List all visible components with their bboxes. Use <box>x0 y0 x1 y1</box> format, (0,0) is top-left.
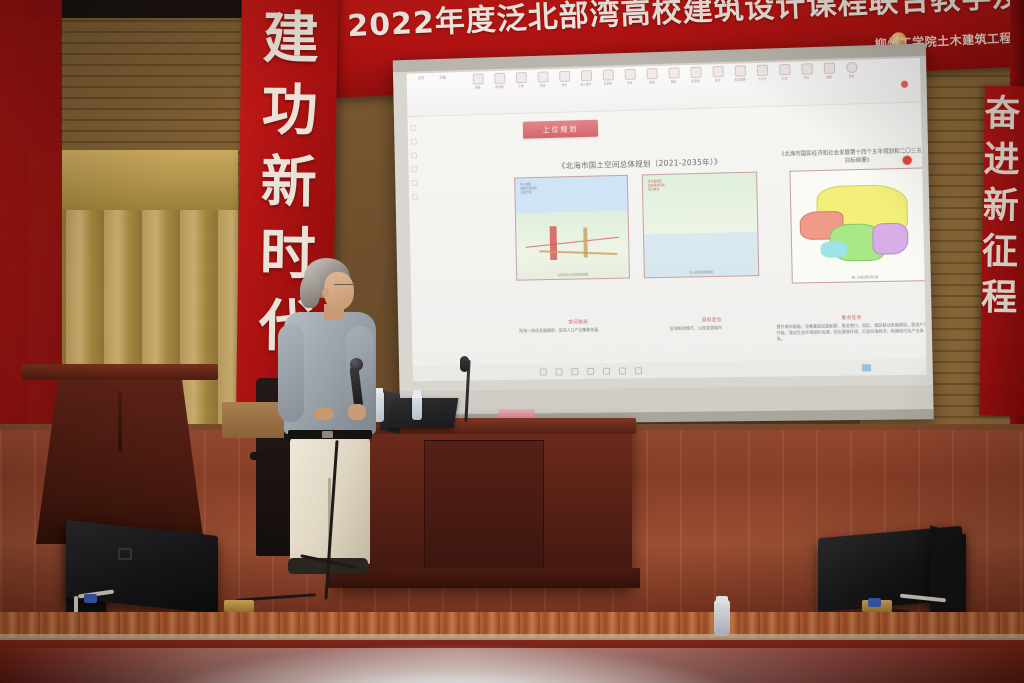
image-icon <box>580 70 591 81</box>
ribbon-item-comment[interactable]: 批注 <box>709 66 727 83</box>
chair-armrest <box>250 452 266 460</box>
mail-icon[interactable] <box>603 367 610 374</box>
ribbon-item-label: 页眉页脚 <box>734 77 745 81</box>
ribbon-group-label: 样式 <box>562 83 568 87</box>
ribbon-group-paragraph[interactable]: 段落 <box>534 71 552 87</box>
lectern-top <box>22 364 218 380</box>
format-painter-icon <box>494 73 505 84</box>
ribbon-item-equation[interactable]: 公式 <box>775 64 794 81</box>
slide-column-spatial: 空间格局 陆海一体化发展格局，促进人口产业集聚发展 <box>519 318 638 334</box>
ribbon-item-table[interactable]: 表格 <box>643 68 661 85</box>
edit-icon <box>823 63 834 74</box>
ribbon-tab-file[interactable]: 文件 <box>412 75 430 80</box>
projected-document: 文件 开始 粘贴 格式刷 字体 <box>407 58 927 381</box>
presentation-laptop <box>390 398 459 428</box>
ribbon-item-wordart[interactable]: 艺术字 <box>753 65 772 82</box>
ribbon-group-label: 字体 <box>518 84 524 88</box>
blue-cable-tag <box>84 594 97 603</box>
projection-screen: 文件 开始 粘贴 格式刷 字体 <box>393 43 934 424</box>
presenter-eyeglasses <box>334 284 353 290</box>
monitor-handle-icon <box>118 548 132 560</box>
ribbon-group-label: 格式刷 <box>495 85 503 89</box>
water-bottle-cap <box>413 390 421 395</box>
ribbon-group-styles[interactable]: 样式 <box>555 71 573 87</box>
presenter-left-arm <box>278 324 304 422</box>
ribbon-item-label: 批注 <box>715 78 721 82</box>
map-legend-item: 港口岸线 <box>648 187 665 191</box>
paste-icon <box>472 73 483 84</box>
ribbon-item-label: 符号 <box>804 75 810 79</box>
clock-icon[interactable] <box>862 364 871 371</box>
ribbon-item-label: 文本框 <box>604 81 612 85</box>
map-legend: 中心城区 城镇开发边界 交通干线 <box>520 182 537 194</box>
slide-column-heading: 重点任务 <box>776 314 926 322</box>
sidebar-outline-icon[interactable] <box>411 139 417 145</box>
water-bottle <box>412 394 422 420</box>
stage-monitor-right-side <box>930 526 966 623</box>
equation-icon <box>779 64 790 75</box>
comment-icon <box>712 66 723 77</box>
photo-scene: 2022年度泛北部湾高校建筑设计课程联合教学及竞赛活 柳州工学院土木建筑工程学 … <box>0 0 1024 683</box>
header-footer-icon <box>734 65 745 76</box>
document-icon[interactable] <box>587 367 594 374</box>
presenter-belt-buckle <box>322 431 333 438</box>
ribbon-item-insert-image[interactable]: 插入图片 <box>577 70 595 86</box>
slide-column-body: 陆海一体化发展格局，促进人口产业集聚发展 <box>519 326 638 334</box>
podium-front-panel <box>424 440 544 572</box>
slide-map-row: 中心城区 城镇开发边界 交通干线 北海市国土空间总体规划图 重点发展区 <box>514 167 926 296</box>
ribbon-group-label: 段落 <box>540 83 546 87</box>
microphone-head-icon <box>460 356 469 372</box>
zone-bay <box>821 242 847 258</box>
textbox-icon <box>602 69 613 80</box>
lectern-mic-stem <box>118 390 122 452</box>
table-icon <box>646 68 657 79</box>
ribbon-tab-home[interactable]: 开始 <box>434 74 452 79</box>
pink-document-folder <box>497 409 535 418</box>
ribbon-item-label: 超链接 <box>692 79 700 83</box>
ribbon-item-edit[interactable]: 编辑 <box>820 62 839 79</box>
presenter-left-hand <box>314 408 334 420</box>
ribbon-item-textbox[interactable]: 文本框 <box>599 69 617 85</box>
map-caption: 图1 市域功能区划分图 <box>793 274 927 281</box>
slide-section-tag: 上位规划 <box>523 120 598 139</box>
ribbon-item-find[interactable]: 查找 <box>842 62 861 79</box>
sidebar-bookmark-icon[interactable] <box>411 152 417 158</box>
ribbon-group-font[interactable]: 字体 <box>512 72 530 88</box>
ribbon-item-label: 表格 <box>649 80 655 84</box>
zone-east <box>873 222 909 254</box>
presenter-right-hand <box>348 404 366 420</box>
ribbon-tab-label: 文件 <box>418 75 425 80</box>
blue-cable-tag <box>868 598 881 607</box>
vertical-banner-right: 奋进新征程 <box>979 86 1024 417</box>
podium-side-shelf <box>222 402 284 438</box>
ribbon-item-label: 公式 <box>782 76 788 80</box>
floor-water-bottle-cap <box>716 596 728 603</box>
sidebar-more-icon[interactable] <box>412 194 418 200</box>
ribbon-item-hyperlink[interactable]: 超链接 <box>686 67 704 84</box>
os-taskbar[interactable] <box>413 358 927 381</box>
slide-column-goals: 目标定位 区域枢纽城市、山海宜居城市 <box>670 316 755 331</box>
ribbon-item-chart[interactable]: 图表 <box>664 67 682 84</box>
ribbon-item-label: 图表 <box>671 79 677 83</box>
presenter-ear <box>322 288 329 298</box>
slide-column-tasks: 重点任务 提升城市能级，完善基础设施配套，推进港口、园区、城区联动发展格局，推进… <box>776 314 926 343</box>
folder-icon[interactable] <box>571 368 578 375</box>
ribbon-item-shape[interactable]: 形状 <box>621 69 639 86</box>
settings-icon[interactable] <box>635 367 642 374</box>
ribbon-group-label: 查找 <box>849 74 855 78</box>
sidebar-layers-icon[interactable] <box>412 180 418 186</box>
browser-icon[interactable] <box>556 368 563 375</box>
slide-title-left: 《北海市国土空间总体规划（2021-2035年）》 <box>526 156 755 173</box>
symbol-icon <box>801 63 812 74</box>
ribbon-group-label: 编辑 <box>826 75 832 79</box>
microphone-grille-icon <box>350 358 363 371</box>
hyperlink-icon <box>690 67 701 78</box>
styles-icon <box>559 71 570 82</box>
slide-column-heading: 目标定位 <box>670 316 755 323</box>
ribbon-item-symbol[interactable]: 符号 <box>797 63 816 80</box>
ribbon-group-formatpainter[interactable]: 格式刷 <box>490 73 508 89</box>
vertical-banner-right-text: 奋进新征程 <box>983 94 1024 325</box>
ribbon-item-label: 形状 <box>627 81 633 85</box>
map-landuse: 重点发展区 生态保护红线 港口岸线 中心城区用地规划图 <box>642 172 759 279</box>
ribbon-tab-label: 开始 <box>439 75 446 80</box>
map-road-line <box>549 226 556 260</box>
map-rail-line <box>583 228 588 258</box>
ribbon-group-label: 粘贴 <box>475 85 481 89</box>
font-icon <box>515 72 526 83</box>
chart-icon <box>668 67 679 78</box>
slide-column-heading: 空间格局 <box>519 318 638 326</box>
map-legend: 重点发展区 生态保护红线 港口岸线 <box>648 179 665 191</box>
presenter-hair-side <box>300 274 320 308</box>
power-adapter <box>224 600 254 612</box>
chat-icon[interactable] <box>619 367 626 374</box>
ribbon-item-label: 插入图片 <box>581 82 592 86</box>
wordart-icon <box>756 65 767 76</box>
stage-front-face <box>0 640 1024 683</box>
sidebar-annotate-icon[interactable] <box>411 166 417 172</box>
search-icon <box>846 62 857 73</box>
start-icon[interactable] <box>540 368 547 375</box>
shape-icon <box>624 69 635 80</box>
slide-column-body: 区域枢纽城市、山海宜居城市 <box>670 325 755 332</box>
sidebar-thumbnail-icon[interactable] <box>411 125 417 131</box>
map-coastal-plan: 中心城区 城镇开发边界 交通干线 北海市国土空间总体规划图 <box>514 175 630 281</box>
ribbon-item-headerfooter[interactable]: 页眉页脚 <box>731 65 749 82</box>
slide-column-body: 提升城市能级，完善基础设施配套，推进港口、园区、城区联动发展格局，推进产业升级，… <box>776 322 926 343</box>
ribbon-item-label: 艺术字 <box>758 77 767 81</box>
map-legend-item: 交通干线 <box>520 190 537 194</box>
map-zoning: 图1 市域功能区划分图 <box>789 167 926 283</box>
floor-water-bottle <box>714 600 730 636</box>
paragraph-icon <box>537 71 548 82</box>
ribbon-group-paste[interactable]: 粘贴 <box>469 73 487 89</box>
